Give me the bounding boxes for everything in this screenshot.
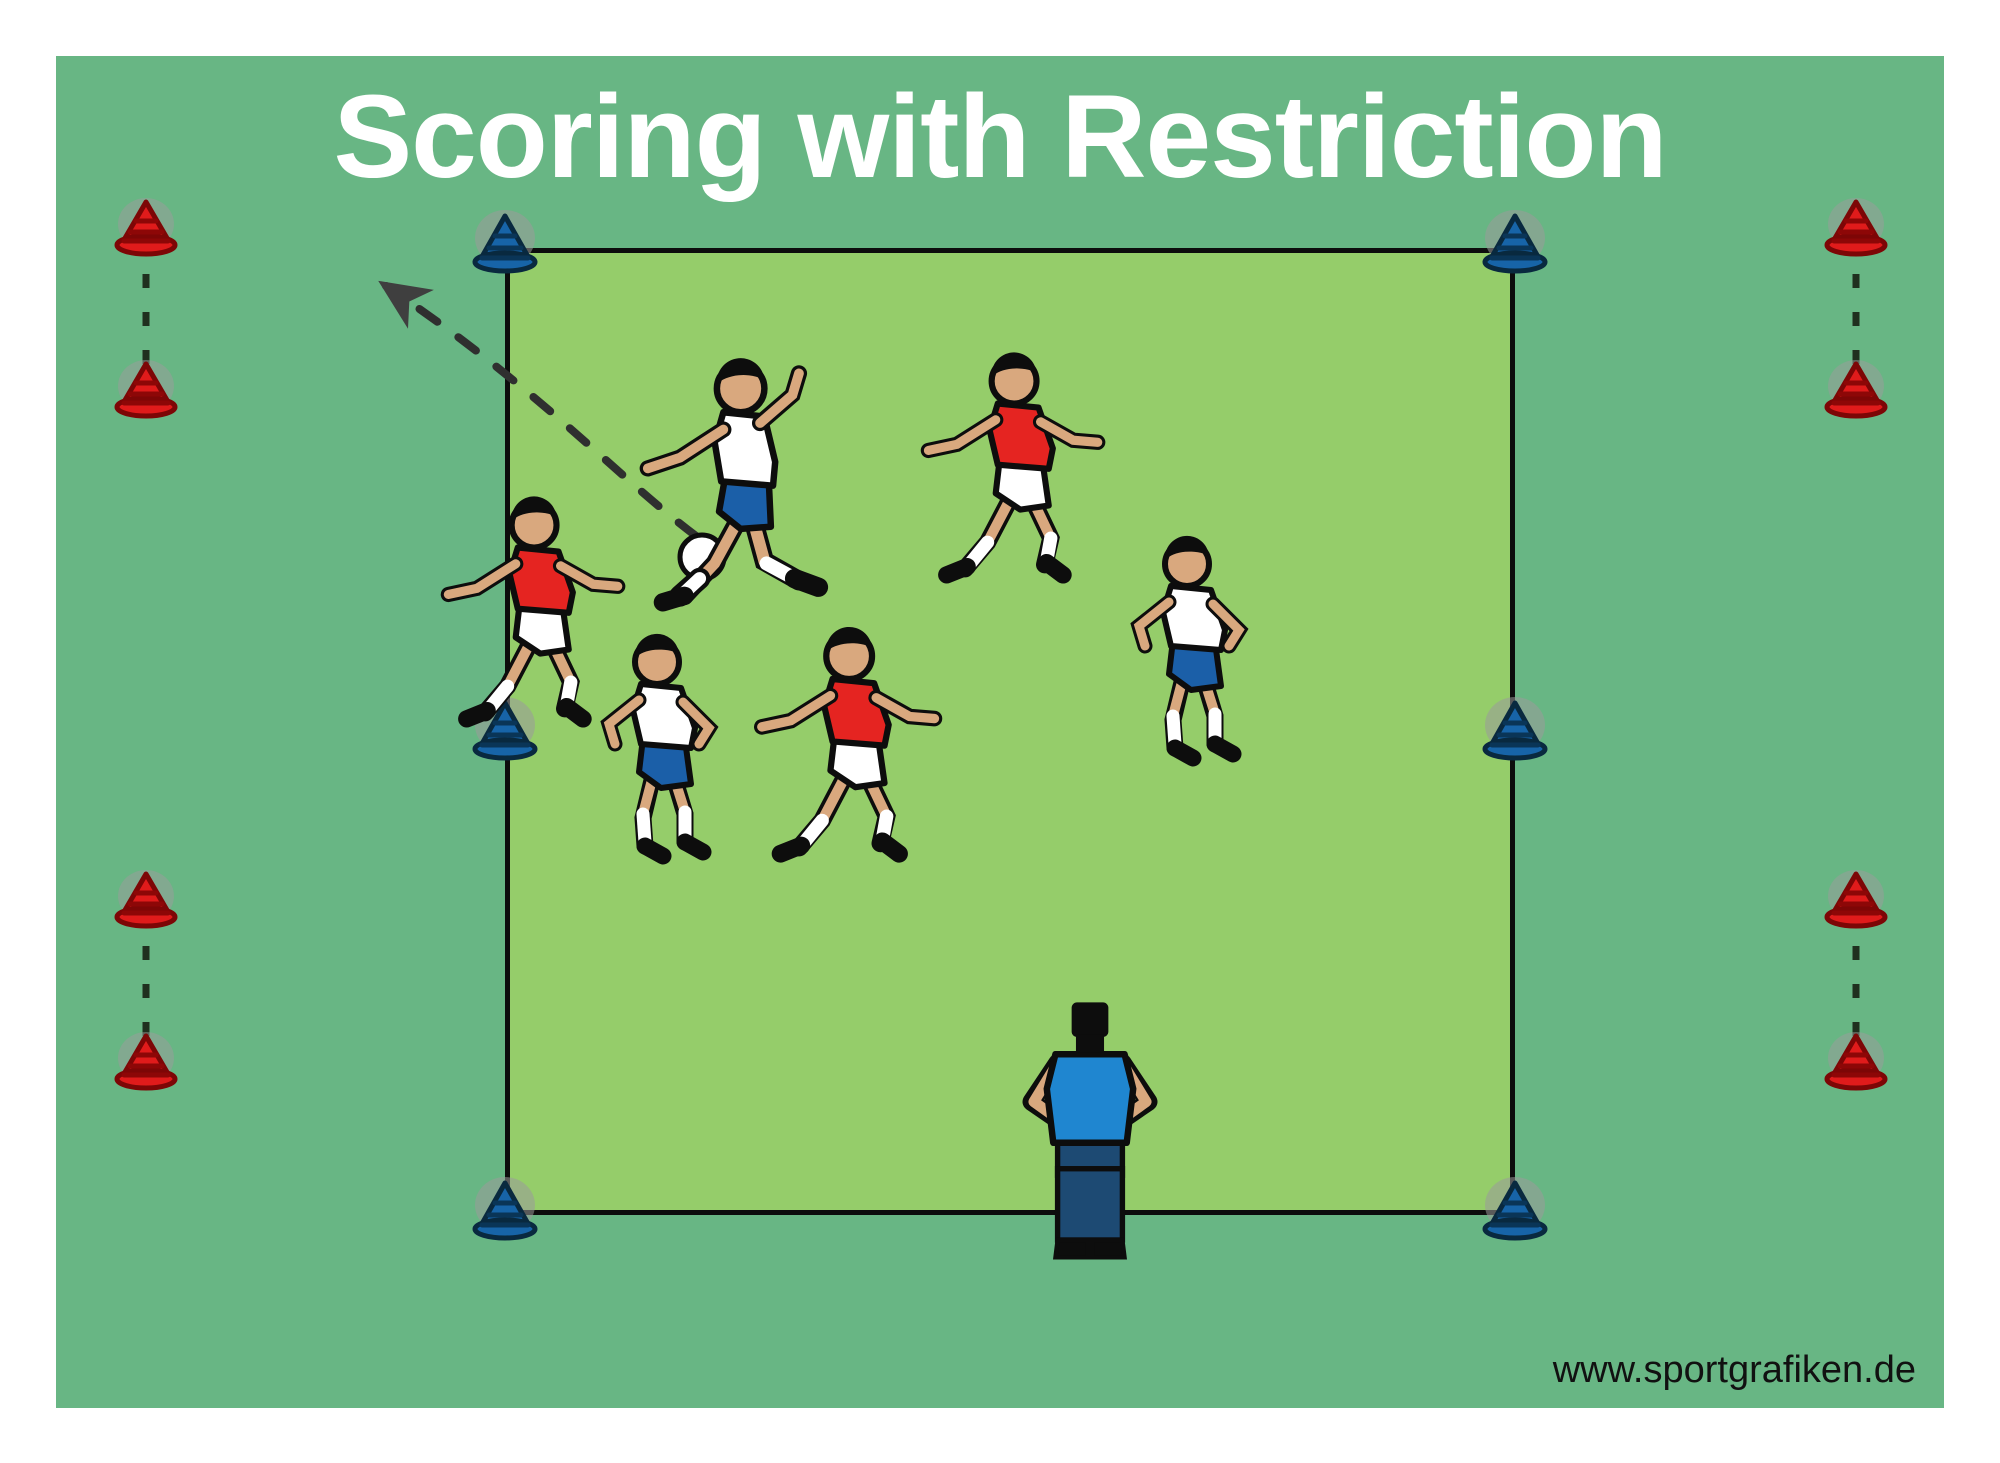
cone-blue-pitch-bottom-right-target[interactable]	[1459, 1159, 1571, 1271]
watermark: www.sportgrafiken.de	[1553, 1349, 1916, 1392]
cone-blue-pitch-top-right-target[interactable]	[1459, 192, 1571, 304]
coach-target[interactable]	[1026, 1000, 1156, 1250]
goal-left-top-target[interactable]	[90, 176, 202, 456]
player-red-lower-left-target[interactable]	[588, 638, 738, 838]
cone-blue-pitch-top-left-target[interactable]	[449, 192, 561, 304]
page-title: Scoring with Restriction	[56, 78, 1944, 196]
diagram-page: Scoring with Restriction	[0, 0, 2000, 1463]
drill-board: Scoring with Restriction	[56, 56, 1944, 1408]
player-red-upper-right-target[interactable]	[934, 356, 1104, 556]
cone-blue-pitch-bottom-left-target[interactable]	[449, 1159, 561, 1271]
cone-blue-pitch-mid-right-target[interactable]	[1459, 679, 1571, 791]
player-white-lower-middle-target[interactable]	[768, 632, 938, 832]
goal-right-bottom-target[interactable]	[1800, 848, 1912, 1128]
soccer-ball-target[interactable]	[678, 533, 734, 589]
goal-right-top-target[interactable]	[1800, 176, 1912, 456]
goal-left-bottom-target[interactable]	[90, 848, 202, 1128]
player-white-right-target[interactable]	[1118, 540, 1268, 740]
